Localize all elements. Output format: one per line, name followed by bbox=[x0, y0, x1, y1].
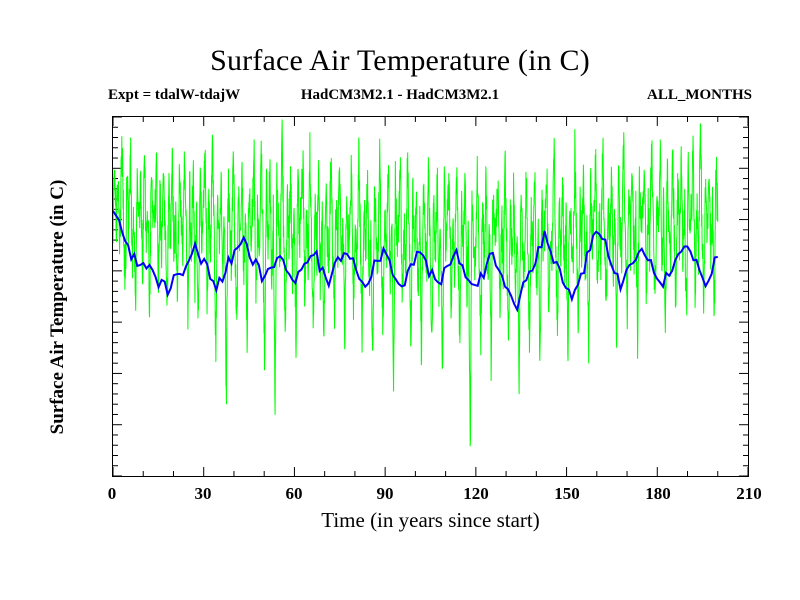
subtitle-months: ALL_MONTHS bbox=[647, 87, 752, 104]
x-tick-label: 120 bbox=[463, 484, 489, 504]
data-series bbox=[113, 120, 718, 447]
chart-page: Surface Air Temperature (in C) Expt = td… bbox=[0, 0, 800, 600]
x-tick-label: 150 bbox=[554, 484, 580, 504]
x-tick-label: 0 bbox=[108, 484, 117, 504]
chart-title: Surface Air Temperature (in C) bbox=[0, 44, 800, 78]
plot-area bbox=[112, 116, 749, 477]
y-axis-title: Surface Air Temperature (in C) bbox=[47, 142, 69, 472]
plot-svg bbox=[113, 117, 748, 476]
x-tick-label: 180 bbox=[645, 484, 671, 504]
x-tick-label: 60 bbox=[286, 484, 303, 504]
x-tick-label: 90 bbox=[377, 484, 394, 504]
x-tick-label: 30 bbox=[195, 484, 212, 504]
x-axis-title: Time (in years since start) bbox=[112, 508, 749, 533]
x-tick-label: 210 bbox=[736, 484, 762, 504]
